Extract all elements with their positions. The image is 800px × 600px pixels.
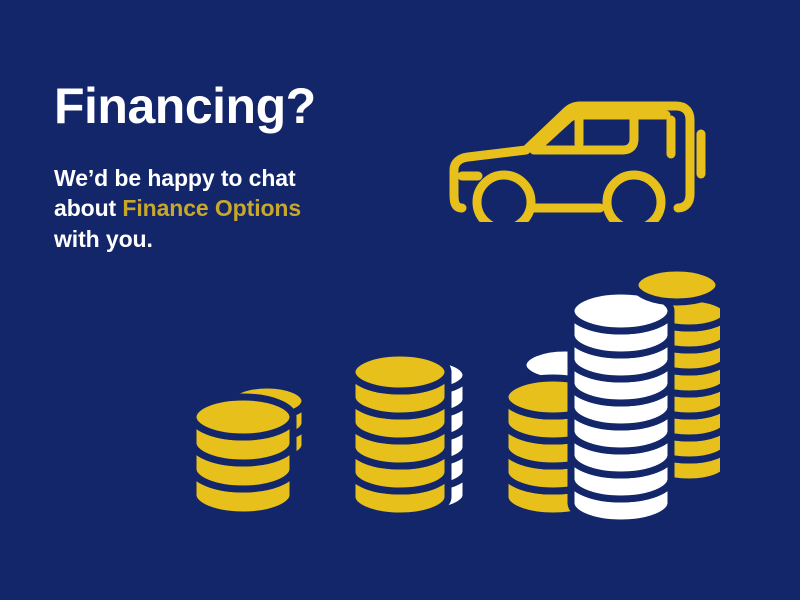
coin-stacks-illustration <box>0 255 800 525</box>
coin-stack-small <box>185 255 330 520</box>
coin-stack-large <box>505 255 720 520</box>
text-block: Financing? We’d be happy to chatabout Fi… <box>54 80 394 254</box>
financing-slide: Financing? We’d be happy to chatabout Fi… <box>0 0 800 600</box>
coin-stack-medium <box>348 255 493 520</box>
suv-car-icon <box>448 82 708 222</box>
subhead-line-2-prefix: about <box>54 195 122 221</box>
finance-options-highlight: Finance Options <box>122 195 301 221</box>
page-title: Financing? <box>54 80 394 133</box>
subhead-line-3: with you. <box>54 226 153 252</box>
subhead-text: We’d be happy to chatabout Finance Optio… <box>54 133 394 255</box>
subhead-line-1: We’d be happy to chat <box>54 165 296 191</box>
